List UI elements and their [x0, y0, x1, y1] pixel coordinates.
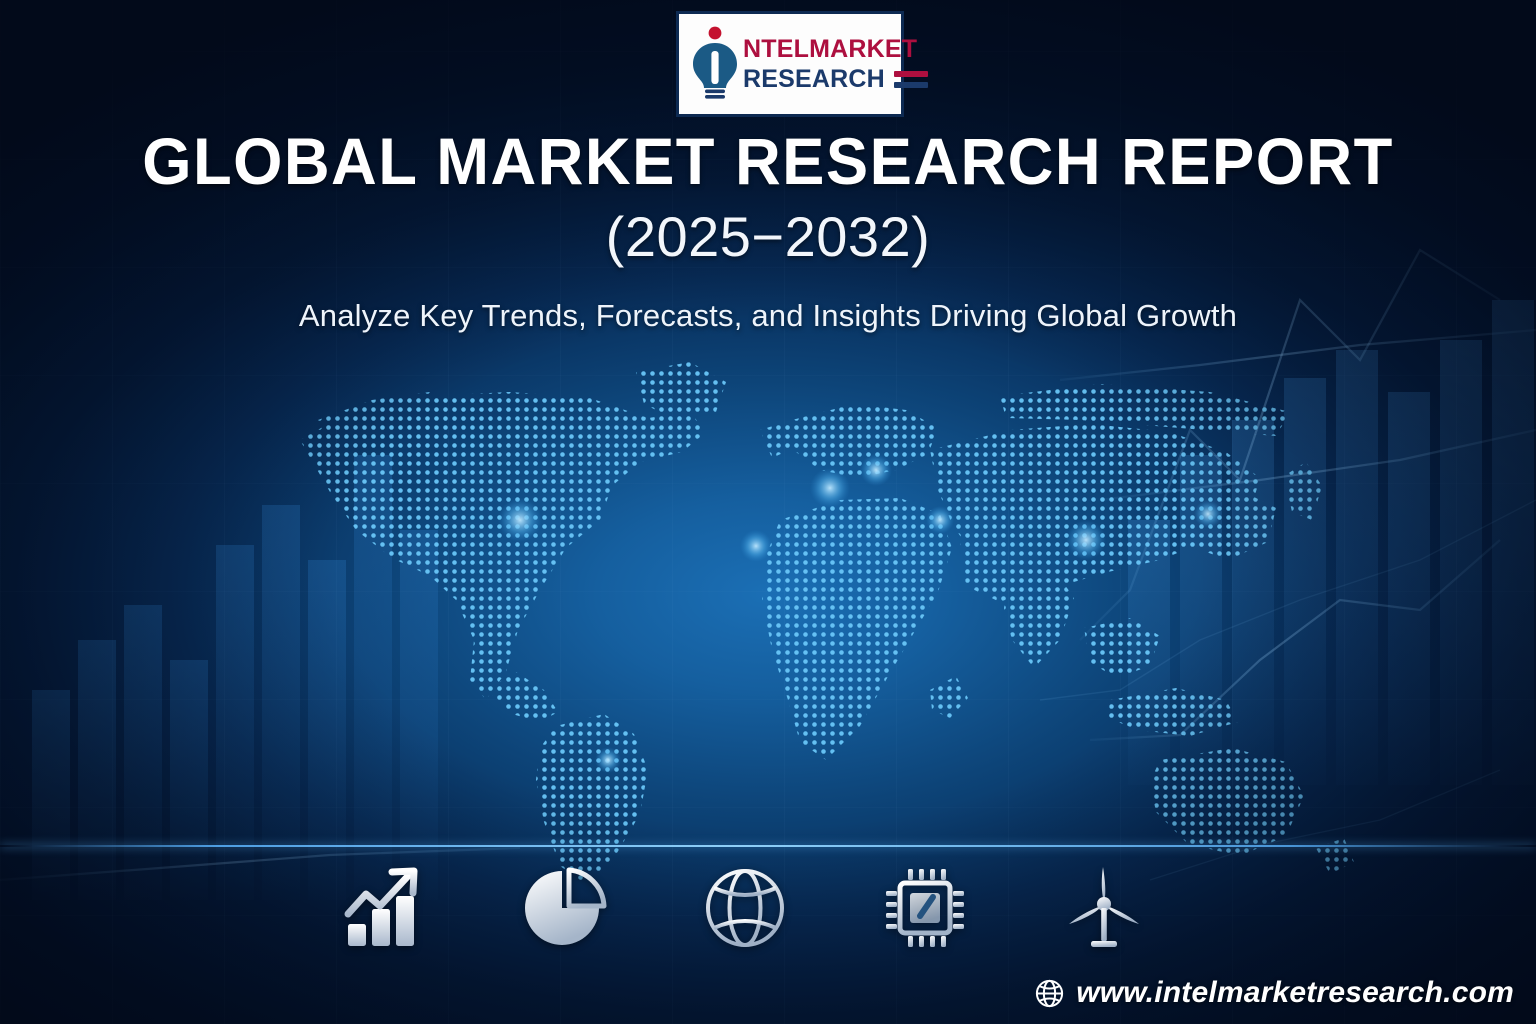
globe-icon	[1035, 979, 1064, 1008]
feature-icon-strip	[340, 862, 1150, 954]
bg-trend-lines-secondary	[1040, 500, 1536, 880]
bg-trend-lines	[0, 250, 1536, 880]
headline-block: GLOBAL MARKET RESEARCH REPORT (2025−2032…	[0, 124, 1536, 336]
bg-bars-right	[1128, 300, 1534, 785]
map-hotspots	[498, 454, 1222, 773]
logo-top-text: NTELMARKET	[743, 37, 928, 62]
bar-chart-growth-icon	[340, 862, 432, 954]
bg-bars-left	[32, 455, 438, 900]
report-cover: NTELMARKET RESEARCH GLOBAL MARKET RESEAR…	[0, 0, 1536, 1024]
microchip-icon	[879, 862, 971, 954]
footer-url-text: www.intelmarketresearch.com	[1076, 976, 1514, 1010]
page-title: GLOBAL MARKET RESEARCH REPORT	[31, 124, 1506, 198]
logo-accent-bars	[894, 71, 928, 88]
horizon-glow-line	[0, 845, 1536, 847]
report-period: (2025−2032)	[0, 202, 1536, 272]
footer-website[interactable]: www.intelmarketresearch.com	[1035, 976, 1514, 1010]
wind-turbine-icon	[1058, 862, 1150, 954]
brand-logo[interactable]: NTELMARKET RESEARCH	[676, 11, 904, 117]
logo-bottom-text: RESEARCH	[743, 67, 885, 92]
globe-icon	[699, 862, 791, 954]
page-subtitle: Analyze Key Trends, Forecasts, and Insig…	[0, 296, 1536, 336]
pie-chart-icon	[520, 862, 612, 954]
lightbulb-icon	[689, 26, 741, 102]
